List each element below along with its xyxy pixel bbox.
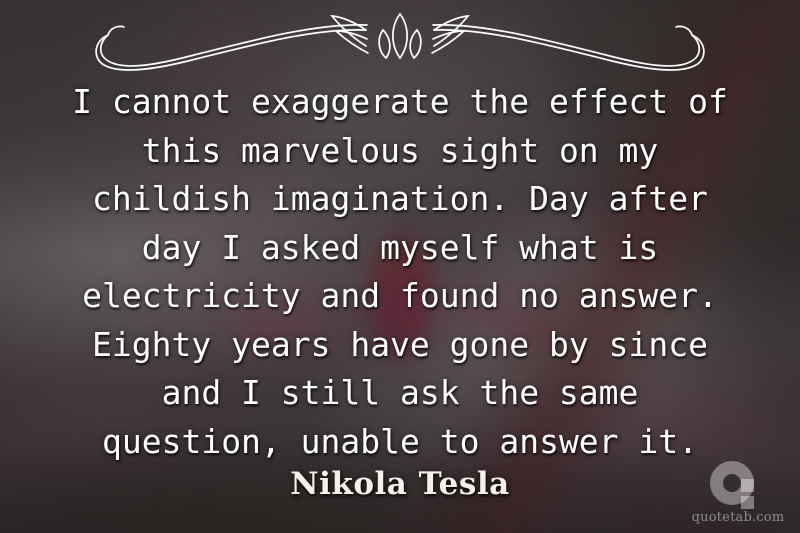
- quote-author: Nikola Tesla: [0, 466, 800, 502]
- quote-line: I cannot exaggerate the effect of: [26, 78, 774, 127]
- watermark-site-label: quotetab.com: [690, 511, 786, 525]
- flourish-divider-icon: [70, 8, 730, 74]
- quote-line: this marvelous sight on my: [26, 127, 774, 176]
- quote-line: electricity and found no answer.: [26, 272, 774, 321]
- card-content: I cannot exaggerate the effect of this m…: [0, 0, 800, 533]
- quote-image-card: I cannot exaggerate the effect of this m…: [0, 0, 800, 533]
- quote-line: and I still ask the same: [26, 369, 774, 418]
- quote-text: I cannot exaggerate the effect of this m…: [0, 78, 800, 466]
- q-logo-block-lower: [741, 496, 754, 509]
- q-logo-block-upper: [741, 479, 754, 492]
- quote-line: day I asked myself what is: [26, 224, 774, 273]
- quotetab-q-logo-icon: [710, 461, 766, 509]
- watermark[interactable]: quotetab.com: [690, 461, 786, 525]
- quote-line: question, unable to answer it.: [26, 418, 774, 467]
- quote-line: Eighty years have gone by since: [26, 321, 774, 370]
- quote-line: childish imagination. Day after: [26, 175, 774, 224]
